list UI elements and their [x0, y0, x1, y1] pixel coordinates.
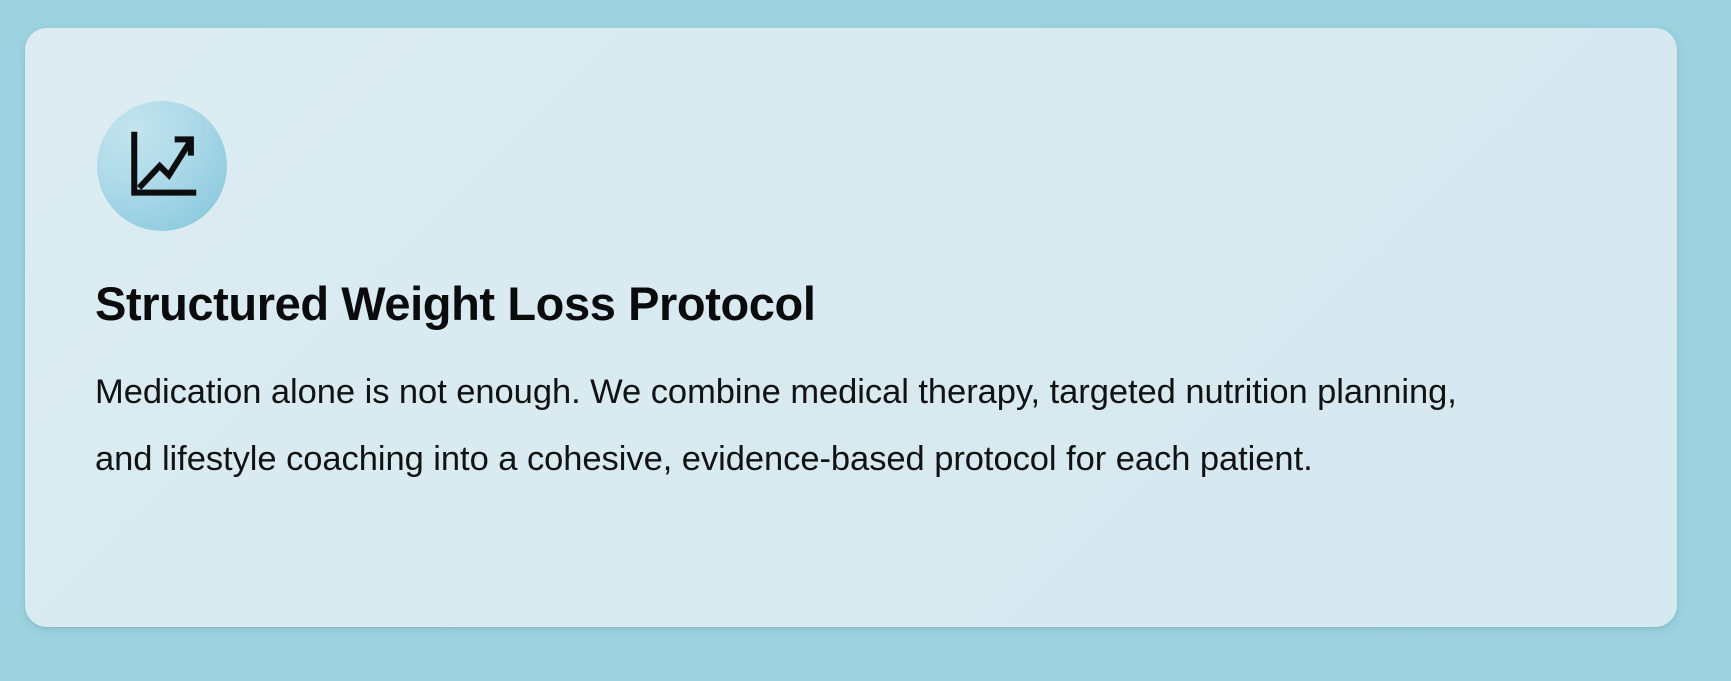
page-title: Structured Weight Loss Protocol: [95, 278, 1565, 331]
line-chart-up-arrow-icon: [97, 101, 227, 231]
feature-card: Structured Weight Loss Protocol Medicati…: [25, 28, 1677, 627]
card-description: Medication alone is not enough. We combi…: [95, 359, 1523, 493]
card-content: Structured Weight Loss Protocol Medicati…: [95, 278, 1565, 493]
page-root: Structured Weight Loss Protocol Medicati…: [0, 0, 1731, 681]
